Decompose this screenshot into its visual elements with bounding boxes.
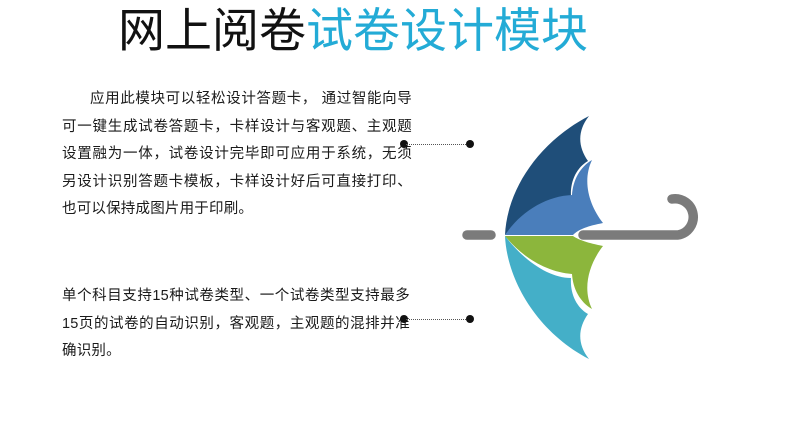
body-paragraph-second: 单个科目支持15种试卷类型、一个试卷类型支持最多15页的试卷的自动识别，客观题，… — [62, 283, 410, 366]
umbrella-illustration — [455, 95, 745, 390]
umbrella-handle-icon — [583, 199, 693, 235]
slide-canvas: 网上阅卷试卷设计模块 应用此模块可以轻松设计答题卡， 通过智能向导可一键生成试卷… — [0, 0, 800, 447]
body-paragraph-first: 应用此模块可以轻松设计答题卡， 通过智能向导可一键生成试卷答题卡，卡样设计与客观… — [62, 86, 412, 224]
page-title: 网上阅卷试卷设计模块 — [118, 2, 588, 60]
page-title-accent-part: 试卷设计模块 — [306, 4, 588, 57]
page-title-dark-part: 网上阅卷 — [118, 4, 306, 57]
